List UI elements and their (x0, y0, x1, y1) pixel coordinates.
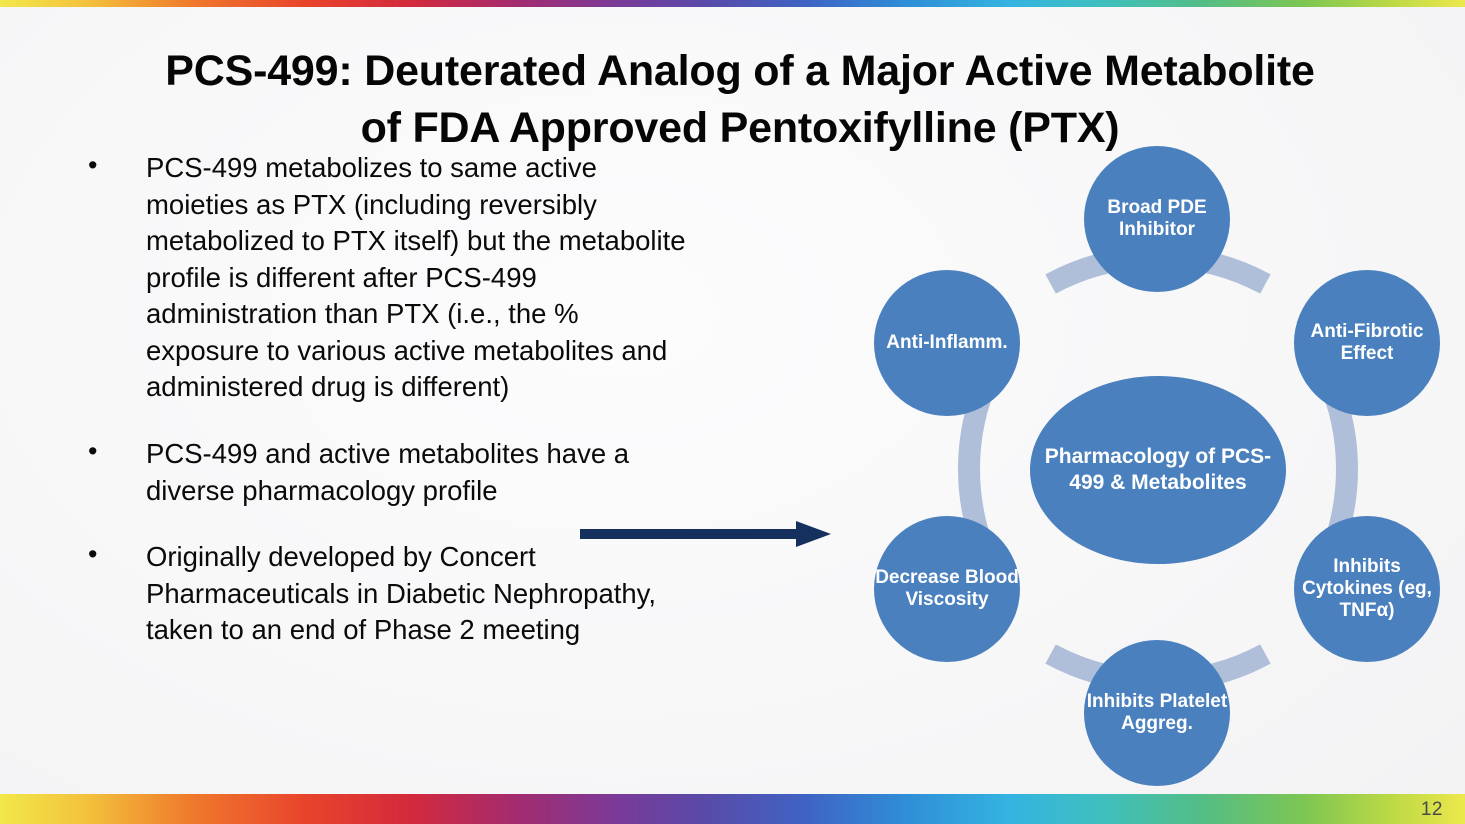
page-number: 12 (1421, 799, 1443, 821)
diagram-node-inhibits-cytokines[interactable]: Inhibits Cytokines (eg, TNFα) (1294, 516, 1440, 662)
bullet-item-2: • PCS-499 and active metabolites have a … (78, 436, 698, 509)
bullet-item-1: • PCS-499 metabolizes to same active moi… (78, 150, 698, 406)
bullet-marker-icon: • (88, 148, 97, 184)
bullet-marker-icon: • (88, 537, 97, 573)
diagram-node-label: Anti-Fibrotic Effect (1294, 321, 1440, 365)
diagram-center-label: Pharmacology of PCS-499 & Metabolites (1030, 444, 1286, 495)
diagram-node-center-pharmacology[interactable]: Pharmacology of PCS-499 & Metabolites (1030, 376, 1286, 564)
diagram-node-label: Inhibits Platelet Aggreg. (1084, 691, 1230, 735)
right-arrow-icon (578, 519, 833, 549)
bullet-item-3: • Originally developed by Concert Pharma… (78, 539, 698, 649)
bullet-text-1: PCS-499 metabolizes to same active moiet… (146, 152, 686, 402)
diagram-node-label: Decrease Blood Viscosity (874, 567, 1020, 611)
diagram-node-label: Anti-Inflamm. (886, 332, 1007, 354)
diagram-node-label: Broad PDE Inhibitor (1084, 197, 1230, 241)
bullet-marker-icon: • (88, 434, 97, 470)
bullet-text-3: Originally developed by Concert Pharmace… (146, 541, 656, 645)
diagram-node-inhibits-platelet-aggregation[interactable]: Inhibits Platelet Aggreg. (1084, 640, 1230, 786)
diagram-node-anti-inflammatory[interactable]: Anti-Inflamm. (874, 270, 1020, 416)
top-rainbow-bar (0, 0, 1465, 7)
diagram-node-broad-pde-inhibitor[interactable]: Broad PDE Inhibitor (1084, 146, 1230, 292)
bottom-rainbow-bar (0, 794, 1465, 824)
pharmacology-cycle-diagram: Broad PDE Inhibitor Anti-Fibrotic Effect… (852, 140, 1464, 798)
diagram-node-label: Inhibits Cytokines (eg, TNFα) (1294, 556, 1440, 622)
diagram-node-decrease-blood-viscosity[interactable]: Decrease Blood Viscosity (874, 516, 1020, 662)
page-title-line-1: PCS-499: Deuterated Analog of a Major Ac… (60, 43, 1420, 100)
slide-canvas: PCS-499: Deuterated Analog of a Major Ac… (0, 0, 1465, 824)
bullet-text-2: PCS-499 and active metabolites have a di… (146, 438, 629, 506)
diagram-node-anti-fibrotic-effect[interactable]: Anti-Fibrotic Effect (1294, 270, 1440, 416)
bullet-list: • PCS-499 metabolizes to same active moi… (78, 150, 698, 679)
